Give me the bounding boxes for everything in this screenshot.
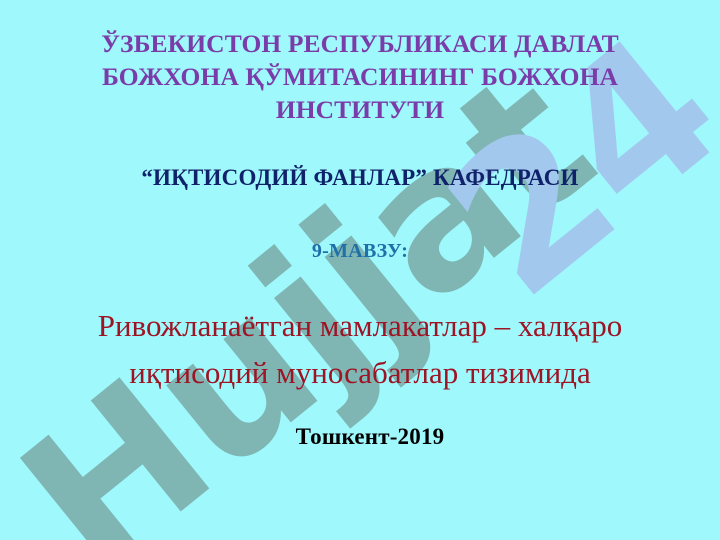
- institution-heading: ЎЗБЕКИСТОН РЕСПУБЛИКАСИ ДАВЛАТ БОЖХОНА Қ…: [0, 28, 720, 127]
- city-year-footer: Тошкент-2019: [0, 424, 720, 450]
- department-heading: “ИҚТИСОДИЙ ФАНЛАР” КАФЕДРАСИ: [0, 165, 720, 191]
- institution-line-2: БОЖХОНА ҚЎМИТАСИНИНГ БОЖХОНА: [40, 61, 680, 94]
- subject-title-line-2: иқтисодий муносабатлар тизимида: [24, 349, 696, 396]
- institution-line-3: ИНСТИТУТИ: [40, 94, 680, 127]
- subject-title-line-1: Ривожланаётган мамлакатлар – халқаро: [24, 302, 696, 349]
- topic-number-label: 9-МАВЗУ:: [0, 240, 720, 263]
- institution-line-1: ЎЗБЕКИСТОН РЕСПУБЛИКАСИ ДАВЛАТ: [40, 28, 680, 61]
- subject-title: Ривожланаётган мамлакатлар – халқаро иқт…: [0, 302, 720, 396]
- slide-content: ЎЗБЕКИСТОН РЕСПУБЛИКАСИ ДАВЛАТ БОЖХОНА Қ…: [0, 0, 720, 540]
- presentation-slide: Hujjat 24 ЎЗБЕКИСТОН РЕСПУБЛИКАСИ ДАВЛАТ…: [0, 0, 720, 540]
